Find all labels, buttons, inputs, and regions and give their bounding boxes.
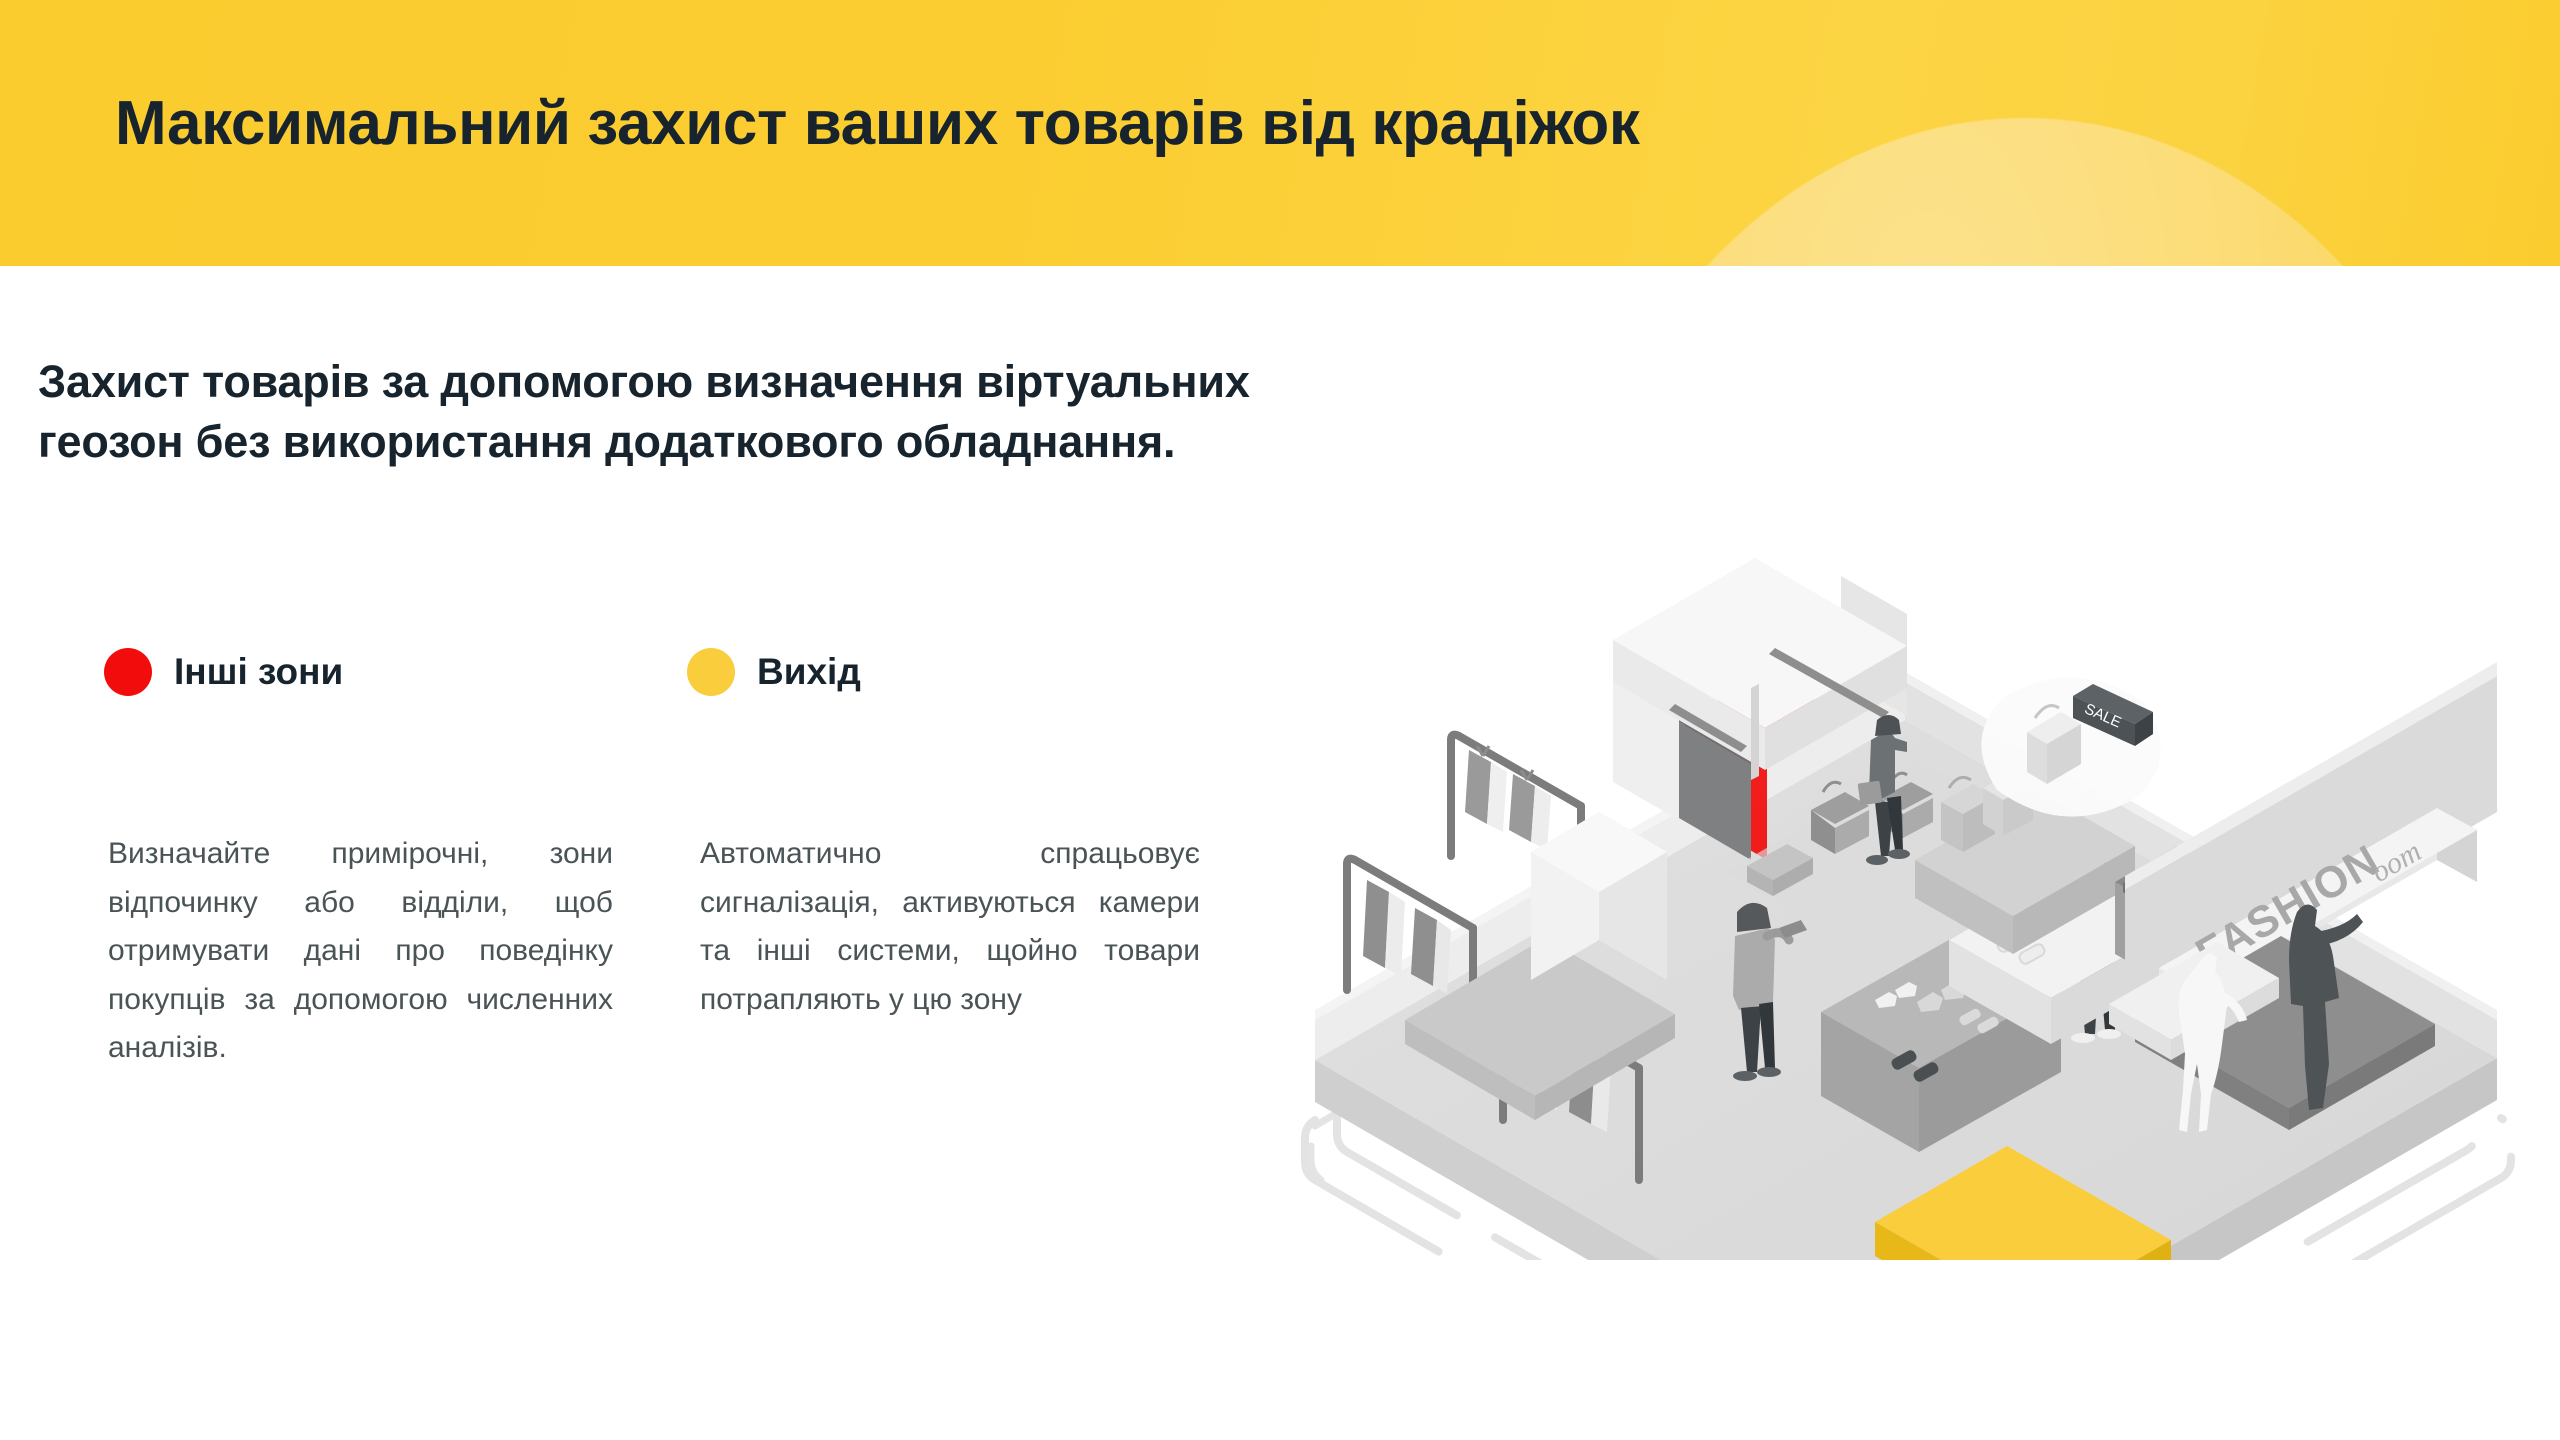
legend: Інші зони Вихід [104,648,1224,718]
page-title: Максимальний захист ваших товарів від кр… [115,90,1640,158]
legend-dot-red-icon [104,648,152,696]
legend-label-exit: Вихід [757,651,861,693]
legend-dot-yellow-icon [687,648,735,696]
legend-label-other-zones: Інші зони [174,651,343,693]
body-text-other-zones: Визначайте примірочні, зони відпочинку а… [108,830,613,1073]
sale-tag-sign: SALE [1981,677,2160,816]
header-banner: Максимальний захист ваших товарів від кр… [0,0,2560,266]
body-column-other-zones: Визначайте примірочні, зони відпочинку а… [108,800,613,1103]
legend-item-other-zones: Інші зони [104,648,343,696]
legend-row: Інші зони Вихід [104,648,1224,718]
body-column-exit: Автоматично спрацьовує сигналізація, акт… [700,800,1200,1054]
body-text-exit: Автоматично спрацьовує сигналізація, акт… [700,830,1200,1024]
isometric-store-illustration: SALE FASHION oom [1255,420,2555,1260]
legend-item-exit: Вихід [687,648,861,696]
subtitle-line-1: Захист товарів за допомогою визначення в… [38,352,1638,412]
